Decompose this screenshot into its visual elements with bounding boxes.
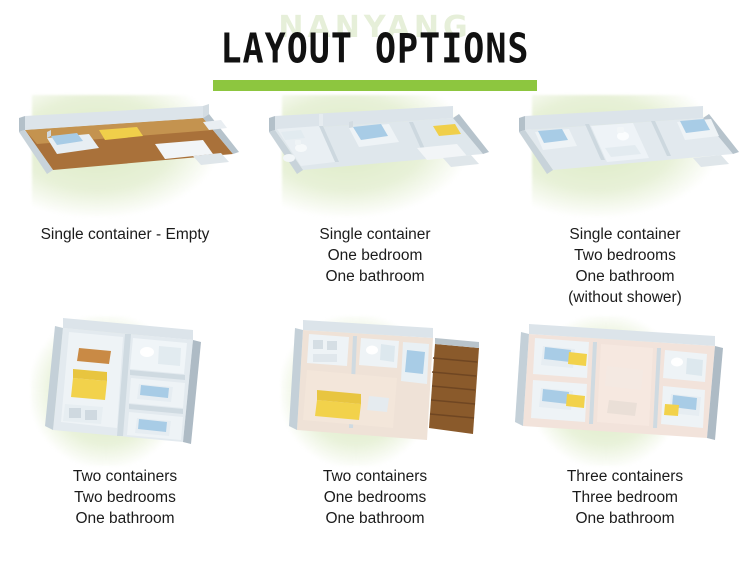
floorplan-illustration-single-two-bed [507,96,743,216]
caption-line: Two containers [73,466,177,487]
caption-line: Single container [319,224,430,245]
layout-card-two-containers-one-bed[interactable]: Two containers One bedrooms One bathroom [250,308,500,540]
title-underline-bar [213,80,537,91]
caption-line: One bathroom [567,508,683,529]
page-title-wrap: LAYOUT OPTIONS [0,26,750,66]
floorplan-illustration-single-empty [7,96,243,216]
floorplan-illustration-two-containers-two-bed [7,308,243,458]
layout-card-three-containers[interactable]: Three containers Three bedroom One bathr… [500,308,750,540]
layout-caption-1: Single container - Empty [41,224,210,245]
caption-line: One bathroom [319,266,430,287]
caption-line: One bathroom [568,266,682,287]
caption-line: Single container [568,224,682,245]
floorplan-svg-3 [507,96,743,216]
layout-card-single-one-bed[interactable]: Single container One bedroom One bathroo… [250,96,500,308]
floorplan-svg-1 [7,96,243,216]
caption-line: (without shower) [568,287,682,308]
caption-line: One bedrooms [323,487,427,508]
floorplan-illustration-three-containers [507,308,743,458]
caption-line: One bathroom [323,508,427,529]
layout-card-single-two-bed[interactable]: Single container Two bedrooms One bathro… [500,96,750,308]
caption-line: Two containers [323,466,427,487]
floorplan-svg-6 [507,308,743,458]
layout-caption-5: Two containers One bedrooms One bathroom [323,466,427,529]
floorplan-svg-5 [257,308,493,458]
page-header: NANYANG LAYOUT OPTIONS [0,0,750,96]
caption-line: Single container - Empty [41,224,210,245]
layout-grid: Single container - Empty [0,96,750,540]
page-title: LAYOUT OPTIONS [220,26,529,73]
caption-line: Three containers [567,466,683,487]
caption-line: Two bedrooms [568,245,682,266]
floorplan-svg-4 [7,308,243,458]
caption-line: Three bedroom [567,487,683,508]
caption-line: One bedroom [319,245,430,266]
layout-caption-4: Two containers Two bedrooms One bathroom [73,466,177,529]
floorplan-illustration-single-one-bed [257,96,493,216]
layout-caption-3: Single container Two bedrooms One bathro… [568,224,682,308]
floorplan-svg-2 [257,96,493,216]
caption-line: One bathroom [73,508,177,529]
layout-caption-2: Single container One bedroom One bathroo… [319,224,430,287]
layout-caption-6: Three containers Three bedroom One bathr… [567,466,683,529]
layout-card-single-empty[interactable]: Single container - Empty [0,96,250,308]
layout-card-two-containers-two-bed[interactable]: Two containers Two bedrooms One bathroom [0,308,250,540]
caption-line: Two bedrooms [73,487,177,508]
floorplan-illustration-two-containers-one-bed [257,308,493,458]
